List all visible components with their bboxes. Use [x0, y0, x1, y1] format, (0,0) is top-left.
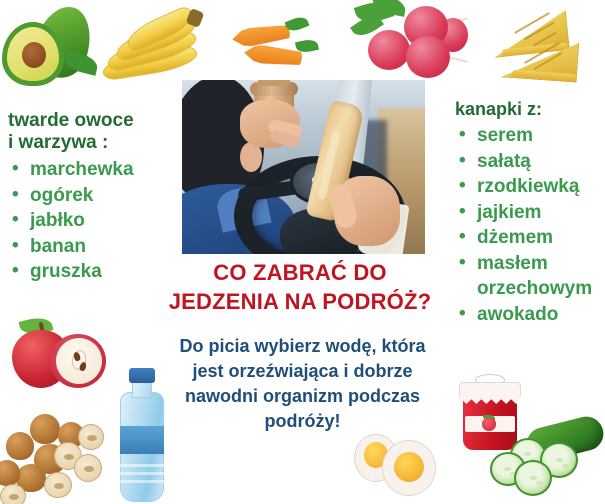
list-item: banan — [8, 234, 134, 260]
hard-fruits-vegetables-block: twarde owoce i warzywa : marchewka ogóre… — [8, 110, 134, 285]
water-bottle-icon — [110, 368, 176, 504]
driver-eating-photo — [182, 80, 425, 254]
bananas-icon — [100, 6, 218, 88]
water-advice-text: Do picia wybierz wodę, która jest orzeźw… — [150, 334, 455, 434]
right-list-heading: kanapki z: — [455, 98, 592, 120]
left-list-items: marchewka ogórek jabłko banan gruszka — [8, 157, 134, 285]
list-item-continuation: orzechowym — [455, 276, 592, 302]
page-title: CO ZABRAĆ DO JEDZENIA NA PODRÓŻ? — [150, 258, 450, 316]
list-item: rzodkiewką — [455, 174, 592, 200]
list-item: gruszka — [8, 259, 134, 285]
list-item: awokado — [455, 302, 592, 328]
list-item: dżemem — [455, 225, 592, 251]
apple-icon — [6, 318, 112, 394]
sandwiches-block: kanapki z: serem sałatą rzodkiewką jajki… — [455, 98, 592, 327]
boiled-eggs-icon — [352, 424, 444, 498]
radishes-icon — [352, 0, 468, 80]
list-item: jajkiem — [455, 200, 592, 226]
cucumber-icon — [490, 412, 605, 500]
list-item: serem — [455, 123, 592, 149]
list-item: marchewka — [8, 157, 134, 183]
carrots-icon — [230, 16, 322, 78]
toast-sandwich-icon — [478, 6, 588, 84]
right-list-items: serem sałatą rzodkiewką jajkiem dżemem m… — [455, 123, 592, 327]
list-item: jabłko — [8, 208, 134, 234]
hazelnuts-icon — [0, 410, 118, 500]
list-item: masłem — [455, 251, 592, 277]
avocado-icon — [2, 4, 94, 88]
infographic-poster: twarde owoce i warzywa : marchewka ogóre… — [0, 0, 605, 504]
list-item: sałatą — [455, 149, 592, 175]
left-list-heading: twarde owoce i warzywa : — [8, 110, 134, 154]
list-item: ogórek — [8, 183, 134, 209]
